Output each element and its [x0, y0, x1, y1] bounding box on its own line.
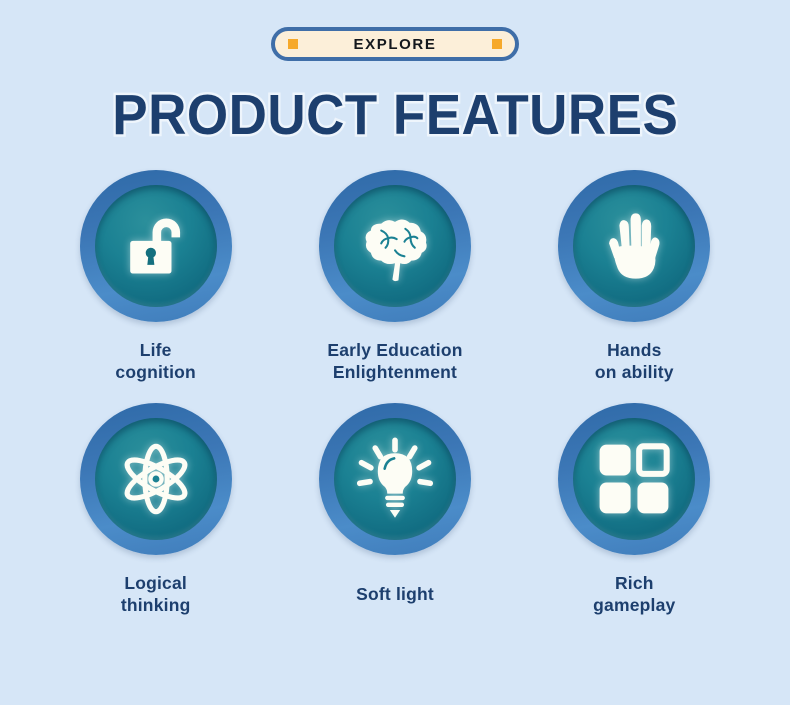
- feature-item-soft-light[interactable]: Soft light: [275, 403, 514, 616]
- feature-caption-line2: cognition: [115, 361, 196, 383]
- page-title: PRODUCT FEATURES: [112, 84, 678, 146]
- explore-badge[interactable]: EXPLORE: [271, 27, 519, 61]
- feature-caption-line2: gameplay: [593, 594, 675, 616]
- feature-caption-line1: Logical: [121, 572, 191, 594]
- feature-icon-circle: [80, 403, 232, 555]
- feature-caption-line1: Early Education: [327, 339, 462, 361]
- explore-badge-container: EXPLORE: [0, 27, 790, 61]
- feature-caption-line2: thinking: [121, 594, 191, 616]
- feature-caption-line1: Soft light: [356, 583, 434, 605]
- feature-caption: Early Education Enlightenment: [327, 339, 462, 383]
- explore-badge-label: EXPLORE: [354, 36, 437, 53]
- feature-caption-line1: Hands: [595, 339, 674, 361]
- feature-caption: Life cognition: [115, 339, 196, 383]
- unlock-icon: [113, 203, 199, 289]
- lightbulb-icon: [352, 436, 438, 522]
- badge-dot-right-icon: [492, 39, 502, 49]
- feature-caption-line2: Enlightenment: [327, 361, 462, 383]
- feature-item-rich-gameplay[interactable]: Rich gameplay: [515, 403, 754, 616]
- feature-caption: Rich gameplay: [593, 572, 675, 616]
- feature-icon-circle: [319, 170, 471, 322]
- feature-item-hands-on-ability[interactable]: Hands on ability: [515, 170, 754, 383]
- feature-icon-circle: [80, 170, 232, 322]
- brain-icon: [352, 203, 438, 289]
- badge-dot-left-icon: [288, 39, 298, 49]
- feature-caption: Soft light: [356, 572, 434, 616]
- feature-caption-line2: on ability: [595, 361, 674, 383]
- feature-item-early-education-enlightenment[interactable]: Early Education Enlightenment: [275, 170, 514, 383]
- feature-grid: Life cognition: [36, 170, 754, 616]
- feature-icon-circle: [319, 403, 471, 555]
- feature-caption-line1: Life: [115, 339, 196, 361]
- feature-caption-line1: Rich: [593, 572, 675, 594]
- grid-squares-icon: [591, 436, 677, 522]
- feature-caption: Logical thinking: [121, 572, 191, 616]
- hand-icon: [591, 203, 677, 289]
- feature-icon-circle: [558, 403, 710, 555]
- page-title-container: PRODUCT FEATURES: [0, 84, 790, 146]
- atom-icon: [113, 436, 199, 522]
- feature-icon-circle: [558, 170, 710, 322]
- feature-item-life-cognition[interactable]: Life cognition: [36, 170, 275, 383]
- feature-item-logical-thinking[interactable]: Logical thinking: [36, 403, 275, 616]
- feature-caption: Hands on ability: [595, 339, 674, 383]
